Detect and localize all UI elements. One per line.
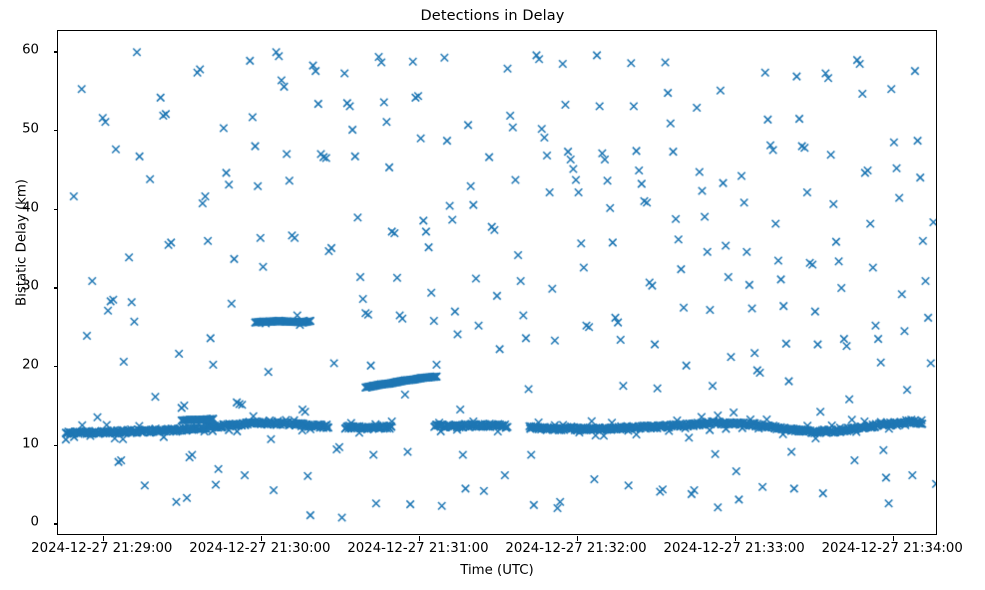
x-tick-label: 2024-12-27 21:31:00 — [347, 541, 488, 556]
scatter-plot-canvas — [58, 31, 936, 534]
y-tick-label: 0 — [31, 515, 39, 530]
x-tick-label: 2024-12-27 21:33:00 — [664, 541, 805, 556]
y-tick-mark — [54, 523, 59, 524]
page-title: Detections in Delay — [0, 8, 985, 24]
y-tick-label: 10 — [22, 436, 39, 451]
y-tick-mark — [54, 445, 59, 446]
y-tick-label: 20 — [22, 358, 39, 373]
y-tick-label: 50 — [22, 122, 39, 137]
y-tick-mark — [54, 51, 59, 52]
x-tick-label: 2024-12-27 21:32:00 — [505, 541, 646, 556]
y-tick-mark — [54, 209, 59, 210]
x-tick-label: 2024-12-27 21:30:00 — [189, 541, 330, 556]
x-axis-tick-labels: 2024-12-27 21:29:002024-12-27 21:30:0020… — [57, 535, 937, 561]
y-tick-label: 40 — [22, 200, 39, 215]
plot-axes — [57, 30, 937, 535]
y-tick-mark — [54, 287, 59, 288]
y-tick-mark — [54, 130, 59, 131]
y-axis-tick-labels: 0102030405060 — [0, 30, 47, 535]
y-tick-label: 30 — [22, 279, 39, 294]
y-tick-label: 60 — [22, 43, 39, 58]
y-tick-mark — [54, 366, 59, 367]
figure: Detections in Delay Bistatic Delay (km) … — [0, 0, 985, 590]
x-tick-label: 2024-12-27 21:29:00 — [31, 541, 172, 556]
x-axis-title: Time (UTC) — [57, 563, 937, 578]
x-tick-label: 2024-12-27 21:34:00 — [822, 541, 963, 556]
